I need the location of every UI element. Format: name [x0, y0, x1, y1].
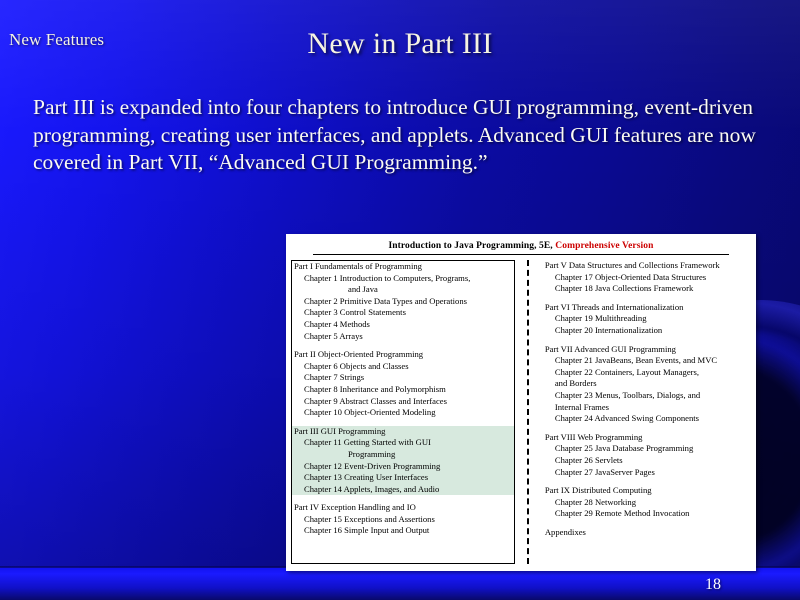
- toc-part-heading: Part II Object-Oriented Programming: [292, 349, 514, 361]
- toc-columns: Part I Fundamentals of ProgrammingChapte…: [291, 260, 751, 564]
- toc-part-heading: Part V Data Structures and Collections F…: [541, 260, 751, 272]
- toc-chapter-entry: Chapter 2 Primitive Data Types and Opera…: [292, 296, 514, 308]
- toc-chapter-entry: Chapter 28 Networking: [541, 497, 751, 509]
- toc-header-divider: [313, 254, 729, 255]
- toc-chapter-entry: Chapter 8 Inheritance and Polymorphism: [292, 384, 514, 396]
- toc-chapter-entry: Internal Frames: [541, 402, 751, 414]
- dashed-divider-line: [527, 260, 529, 564]
- toc-chapter-entry: Chapter 6 Objects and Classes: [292, 361, 514, 373]
- toc-chapter-entry: Chapter 10 Object-Oriented Modeling: [292, 407, 514, 419]
- toc-part-heading: Part III GUI Programming: [292, 426, 514, 438]
- toc-part-heading: Part I Fundamentals of Programming: [292, 261, 514, 273]
- toc-part-heading: Appendixes: [541, 527, 751, 539]
- toc-group-gap: [541, 520, 751, 527]
- toc-header-title: Introduction to Java Programming, 5E,: [388, 241, 552, 251]
- toc-chapter-entry: Chapter 20 Internationalization: [541, 325, 751, 337]
- toc-group-gap: [541, 478, 751, 485]
- toc-group: Part IX Distributed ComputingChapter 28 …: [541, 485, 751, 520]
- toc-chapter-entry: Chapter 11 Getting Started with GUI: [292, 437, 514, 449]
- toc-group-gap: [292, 495, 514, 502]
- toc-group-highlighted: Part III GUI ProgrammingChapter 11 Getti…: [292, 426, 514, 496]
- toc-chapter-entry: Chapter 25 Java Database Programming: [541, 443, 751, 455]
- toc-group: Part VIII Web ProgrammingChapter 25 Java…: [541, 432, 751, 478]
- toc-chapter-entry: Chapter 21 JavaBeans, Bean Events, and M…: [541, 355, 751, 367]
- toc-header-edition: Comprehensive Version: [555, 241, 653, 251]
- toc-chapter-entry: Chapter 19 Multithreading: [541, 313, 751, 325]
- toc-group: Part VII Advanced GUI ProgrammingChapter…: [541, 344, 751, 425]
- toc-chapter-entry: Chapter 9 Abstract Classes and Interface…: [292, 396, 514, 408]
- toc-group: Part V Data Structures and Collections F…: [541, 260, 751, 295]
- toc-part-heading: Part VII Advanced GUI Programming: [541, 344, 751, 356]
- page-title: New in Part III: [0, 27, 800, 61]
- toc-right-column: Part V Data Structures and Collections F…: [541, 260, 751, 564]
- toc-chapter-entry: Chapter 12 Event-Driven Programming: [292, 461, 514, 473]
- toc-part-heading: Part IX Distributed Computing: [541, 485, 751, 497]
- toc-chapter-entry: Chapter 14 Applets, Images, and Audio: [292, 484, 514, 496]
- slide-page-number: 18: [705, 576, 721, 594]
- toc-chapter-entry: Chapter 23 Menus, Toolbars, Dialogs, and: [541, 390, 751, 402]
- toc-chapter-entry: Chapter 1 Introduction to Computers, Pro…: [292, 273, 514, 285]
- toc-chapter-entry: Chapter 3 Control Statements: [292, 307, 514, 319]
- presentation-slide: New Features New in Part III Part III is…: [0, 0, 800, 600]
- toc-chapter-entry: Chapter 5 Arrays: [292, 331, 514, 343]
- toc-chapter-entry: Chapter 29 Remote Method Invocation: [541, 508, 751, 520]
- toc-chapter-entry: and Java: [292, 284, 514, 296]
- toc-group-gap: [292, 419, 514, 426]
- toc-left-column: Part I Fundamentals of ProgrammingChapte…: [291, 260, 515, 564]
- toc-chapter-entry: Chapter 18 Java Collections Framework: [541, 283, 751, 295]
- toc-chapter-entry: Programming: [292, 449, 514, 461]
- toc-group: Part VI Threads and Internationalization…: [541, 302, 751, 337]
- slide-body-text: Part III is expanded into four chapters …: [33, 94, 778, 177]
- bottom-accent-band: [0, 568, 800, 600]
- toc-chapter-entry: Chapter 24 Advanced Swing Components: [541, 413, 751, 425]
- toc-group: Appendixes: [541, 527, 751, 539]
- toc-group: Part IV Exception Handling and IOChapter…: [292, 502, 514, 537]
- toc-part-heading: Part IV Exception Handling and IO: [292, 502, 514, 514]
- toc-chapter-entry: Chapter 13 Creating User Interfaces: [292, 472, 514, 484]
- toc-chapter-entry: Chapter 17 Object-Oriented Data Structur…: [541, 272, 751, 284]
- toc-header: Introduction to Java Programming, 5E, Co…: [291, 238, 751, 251]
- toc-group-gap: [541, 295, 751, 302]
- toc-panel: Introduction to Java Programming, 5E, Co…: [286, 234, 756, 571]
- toc-chapter-entry: and Borders: [541, 378, 751, 390]
- toc-chapter-entry: Chapter 7 Strings: [292, 372, 514, 384]
- toc-chapter-entry: Chapter 22 Containers, Layout Managers,: [541, 367, 751, 379]
- toc-column-divider: [515, 260, 541, 564]
- toc-group: Part II Object-Oriented ProgrammingChapt…: [292, 349, 514, 419]
- toc-group-gap: [541, 425, 751, 432]
- toc-chapter-entry: Chapter 27 JavaServer Pages: [541, 467, 751, 479]
- toc-group-gap: [541, 337, 751, 344]
- toc-group: Part I Fundamentals of ProgrammingChapte…: [292, 261, 514, 342]
- toc-part-heading: Part VI Threads and Internationalization: [541, 302, 751, 314]
- toc-chapter-entry: Chapter 16 Simple Input and Output: [292, 525, 514, 537]
- toc-chapter-entry: Chapter 15 Exceptions and Assertions: [292, 514, 514, 526]
- toc-group-gap: [292, 342, 514, 349]
- toc-part-heading: Part VIII Web Programming: [541, 432, 751, 444]
- toc-chapter-entry: Chapter 4 Methods: [292, 319, 514, 331]
- toc-chapter-entry: Chapter 26 Servlets: [541, 455, 751, 467]
